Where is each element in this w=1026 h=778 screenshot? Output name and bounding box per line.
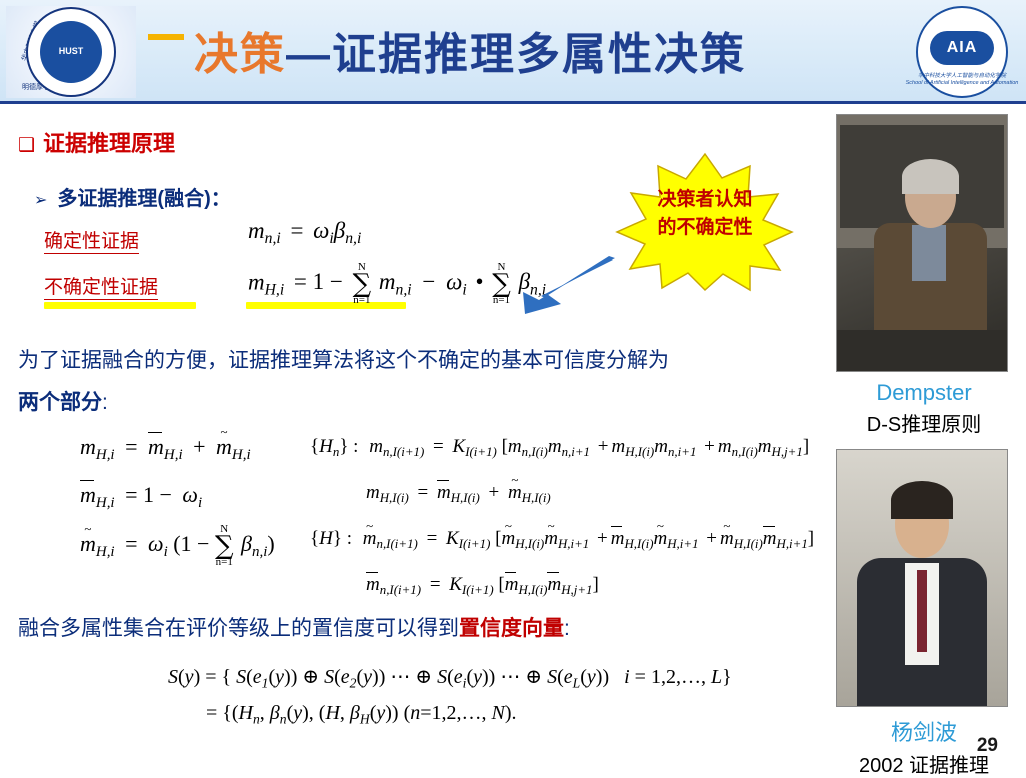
- paragraph-1-bold: 两个部分: [18, 391, 102, 414]
- callout-text: 决策者认知 的不确定性: [600, 186, 810, 241]
- title-accent-bar: [148, 34, 184, 40]
- title-prefix: 决策: [194, 30, 286, 79]
- formula-recursive-3: {H} : ~mn,I(i+1) = KI(i+1) [~mH,I(i)~mH,…: [310, 528, 814, 552]
- formula-decomp-3: ~mH,i = ωi (1 − N∑n=1 βn,i): [80, 524, 275, 568]
- photo1-hair: [902, 159, 960, 195]
- aia-logo-en: School of Artificial Intelligence and Au…: [906, 80, 1019, 86]
- photo2-hair: [891, 481, 952, 519]
- formula-decomp-1: mH,i = mH,i + ~mH,i: [80, 434, 251, 464]
- photo1-shirt: [912, 225, 946, 281]
- paragraph-1-line-1: 为了证据融合的方便，证据推理算法将这个不确定的基本可信度分解为: [18, 344, 669, 374]
- item-uncertain-evidence: 不确定性证据: [44, 272, 158, 299]
- formula-recursive-1: {Hn} : mn,I(i+1) = KI(i+1) [mn,I(i)mn,i+…: [310, 436, 809, 460]
- hust-logo-ring: HUST: [26, 7, 116, 97]
- triangle-bullet-icon: ➢: [34, 192, 47, 209]
- highlight-under-uncertain: [44, 302, 196, 309]
- hust-logo: 华中科技大学 明德厚学 求是创新 HUST: [6, 6, 136, 98]
- photo1-desk: [837, 330, 1007, 371]
- aia-logo-subtitle: 华中科技大学人工智能与自动化学院 School of Artificial In…: [906, 73, 1019, 87]
- formula-hn-label: {Hn} :: [310, 436, 358, 457]
- formula-recursive-2: mH,I(i) = mH,I(i) + ~mH,I(i): [366, 482, 551, 506]
- slide-title: 决策—证据推理多属性决策: [148, 18, 888, 90]
- slide-header: 华中科技大学 明德厚学 求是创新 HUST 决策—证据推理多属性决策 AIA 华…: [0, 0, 1026, 104]
- formula-decomp-2: mH,i = 1 − ωi: [80, 482, 202, 512]
- square-bullet-icon: ❑: [18, 135, 35, 156]
- callout-line1: 决策者认知: [657, 189, 752, 210]
- item-uncertain-evidence-label: 不确定性证据: [44, 277, 158, 300]
- slide-body: ❑证据推理原理 ➢多证据推理(融合)： 确定性证据 不确定性证据 mn,i = …: [0, 104, 1026, 769]
- item-certain-evidence-label: 确定性证据: [44, 231, 139, 254]
- paragraph-2-tail: :: [564, 617, 570, 640]
- title-main: —证据推理多属性决策: [286, 30, 746, 79]
- formula-h-label: {H} :: [310, 528, 352, 549]
- dempster-photo: [836, 114, 1008, 372]
- dempster-sub-caption: D-S推理原则: [836, 408, 1012, 437]
- page-number: 29: [977, 735, 998, 757]
- formula-recursive-4: mn,I(i+1) = KI(i+1) [mH,I(i)mH,j+1]: [366, 574, 599, 598]
- formula-mni: mn,i = ωiβn,i: [248, 218, 361, 248]
- callout-line2: 的不确定性: [657, 217, 752, 238]
- yangjianbo-photo: [836, 449, 1008, 707]
- arrow-icon: [495, 256, 615, 316]
- photo2-tie: [917, 570, 927, 652]
- hust-logo-inner: HUST: [40, 21, 102, 83]
- page-title: 决策—证据推理多属性决策: [194, 18, 746, 82]
- sub-heading-label: 多证据推理(融合)：: [57, 188, 230, 210]
- section-heading: ❑证据推理原理: [18, 126, 175, 158]
- section-heading-label: 证据推理原理: [43, 131, 175, 156]
- formula-sy-line2: = {(Hn, βn(y), (H, βH(y)) (n=1,2,…, N).: [206, 702, 517, 727]
- dempster-name-caption: Dempster: [836, 380, 1012, 406]
- paragraph-1-line-2: 两个部分:: [18, 386, 108, 416]
- right-column: Dempster D-S推理原则 杨剑波 2002 证据推理: [836, 114, 1012, 778]
- paragraph-2-red: 置信度向量: [459, 617, 564, 640]
- paragraph-2-pre: 融合多属性集合在评价等级上的置信度可以得到: [18, 617, 459, 640]
- sub-heading: ➢多证据推理(融合)：: [34, 182, 231, 211]
- formula-sy-line1: S(y) = { S(e1(y)) ⊕ S(e2(y)) ⋯ ⊕ S(ei(y)…: [168, 664, 732, 691]
- item-certain-evidence: 确定性证据: [44, 226, 139, 253]
- callout-star: 决策者认知 的不确定性: [600, 152, 810, 292]
- paragraph-2: 融合多属性集合在评价等级上的置信度可以得到置信度向量:: [18, 612, 570, 642]
- paragraph-1-tail: :: [102, 391, 108, 414]
- aia-logo: AIA 华中科技大学人工智能与自动化学院 School of Artificia…: [904, 5, 1020, 99]
- aia-logo-cn: 华中科技大学人工智能与自动化学院: [918, 73, 1006, 79]
- aia-logo-core: AIA: [930, 31, 994, 65]
